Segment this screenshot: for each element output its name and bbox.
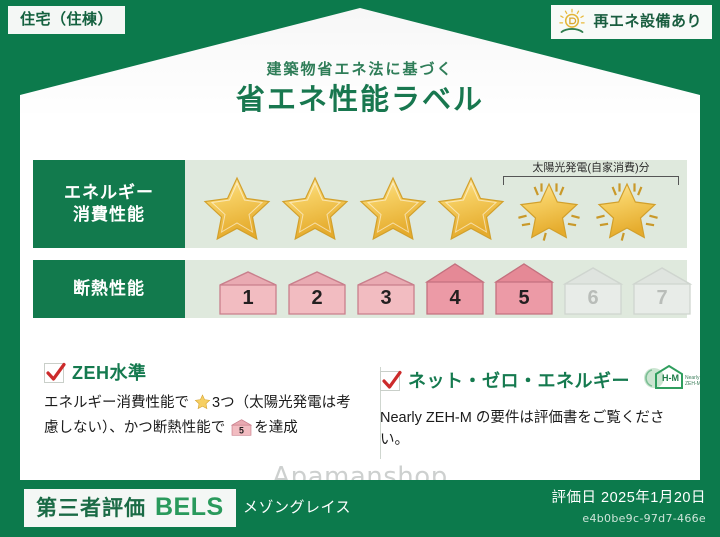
star-icon — [277, 172, 353, 242]
nzeb-description: Nearly ZEH-M の要件は評価書をご覧ください。 — [380, 407, 680, 452]
zeh-title: ZEH水準 — [72, 364, 147, 382]
inline-grade-badge: 5 — [227, 424, 252, 440]
energy-performance-label: エネルギー 消費性能 — [33, 160, 185, 248]
zeh-text-part1: エネルギー消費性能で — [44, 395, 189, 411]
inline-star-icon — [190, 398, 211, 414]
renewable-equipment-badge: 再エネ設備あり — [551, 5, 712, 39]
zeh-m-logo-icon: H-M Nearly ZEH-M — [640, 363, 700, 398]
energy-label-card: 住宅（住棟） 再エネ設備あり 建築物省エネ法に基づく — [0, 0, 720, 537]
evaluation-date: 評価日 2025年1月20日 — [552, 491, 706, 506]
checkbox-icon — [44, 363, 64, 383]
net-zero-energy-block: ネット・ゼロ・エネルギー H-M Nearly ZEH-M Nearly ZEH… — [362, 363, 680, 452]
solar-contribution-annotation: 太陽光発電(自家消費)分 — [503, 162, 679, 185]
bels-certification-chip: 第三者評価 BELS — [24, 489, 236, 527]
footer-bar: 第三者評価 BELS メゾングレイス 評価日 2025年1月20日 e4b0be… — [0, 480, 720, 537]
energy-stars-area: 太陽光発電(自家消費)分 — [185, 160, 687, 248]
building-name: メゾングレイス — [243, 500, 351, 515]
insulation-grade-badge: 4 — [422, 262, 488, 316]
insulation-performance-label: 断熱性能 — [33, 260, 185, 318]
svg-text:5: 5 — [239, 426, 244, 436]
building-type-chip: 住宅（住棟） — [8, 6, 125, 34]
bels-label: BELS — [155, 495, 224, 520]
evaluation-id: e4b0be9c-97d7-466e — [582, 513, 706, 524]
insulation-performance-row: 断熱性能 1 — [33, 260, 687, 318]
solar-annotation-label: 太陽光発電(自家消費)分 — [503, 162, 679, 174]
nzeb-title: ネット・ゼロ・エネルギー — [408, 372, 630, 390]
insulation-grades-area: 1 2 3 — [185, 260, 695, 318]
rating-panel: エネルギー 消費性能 — [33, 160, 687, 330]
zeh-description: エネルギー消費性能で 3つ（太陽光発電は考慮しない）、かつ断熱性能で 5 を達成 — [44, 392, 362, 444]
renewable-badge-label: 再エネ設備あり — [593, 14, 702, 30]
nzeb-heading: ネット・ゼロ・エネルギー H-M Nearly ZEH-M — [380, 363, 680, 398]
insulation-grade-badge: 3 — [353, 270, 419, 316]
zeh-heading: ZEH水準 — [44, 363, 362, 383]
third-party-label: 第三者評価 — [36, 498, 146, 519]
insulation-grade-badge: 5 — [491, 262, 557, 316]
zeh-standard-block: ZEH水準 エネルギー消費性能で 3つ（太陽光発電は考慮しない）、かつ断熱性能で… — [44, 363, 362, 452]
star-icon — [199, 172, 275, 242]
energy-performance-row: エネルギー 消費性能 — [33, 160, 687, 248]
star-icon — [433, 172, 509, 242]
insulation-grade-badge: 2 — [284, 270, 350, 316]
title-block: 建築物省エネ法に基づく 省エネ性能ラベル — [0, 62, 720, 118]
svg-text:ZEH-M: ZEH-M — [685, 381, 700, 387]
page-title: 省エネ性能ラベル — [0, 82, 720, 118]
insulation-grade-badge: 7 — [629, 266, 695, 316]
solar-sun-icon — [557, 8, 587, 36]
title-subtitle: 建築物省エネ法に基づく — [0, 62, 720, 79]
insulation-grade-badge: 1 — [215, 270, 281, 316]
insulation-grade-list: 1 2 3 — [215, 262, 695, 316]
checkbox-icon — [380, 371, 400, 391]
info-columns: ZEH水準 エネルギー消費性能で 3つ（太陽光発電は考慮しない）、かつ断熱性能で… — [44, 363, 684, 452]
solar-bracket — [503, 176, 679, 185]
svg-text:H-M: H-M — [662, 373, 679, 383]
insulation-grade-badge: 6 — [560, 266, 626, 316]
zeh-text-part3: を達成 — [254, 420, 298, 436]
star-icon — [355, 172, 431, 242]
